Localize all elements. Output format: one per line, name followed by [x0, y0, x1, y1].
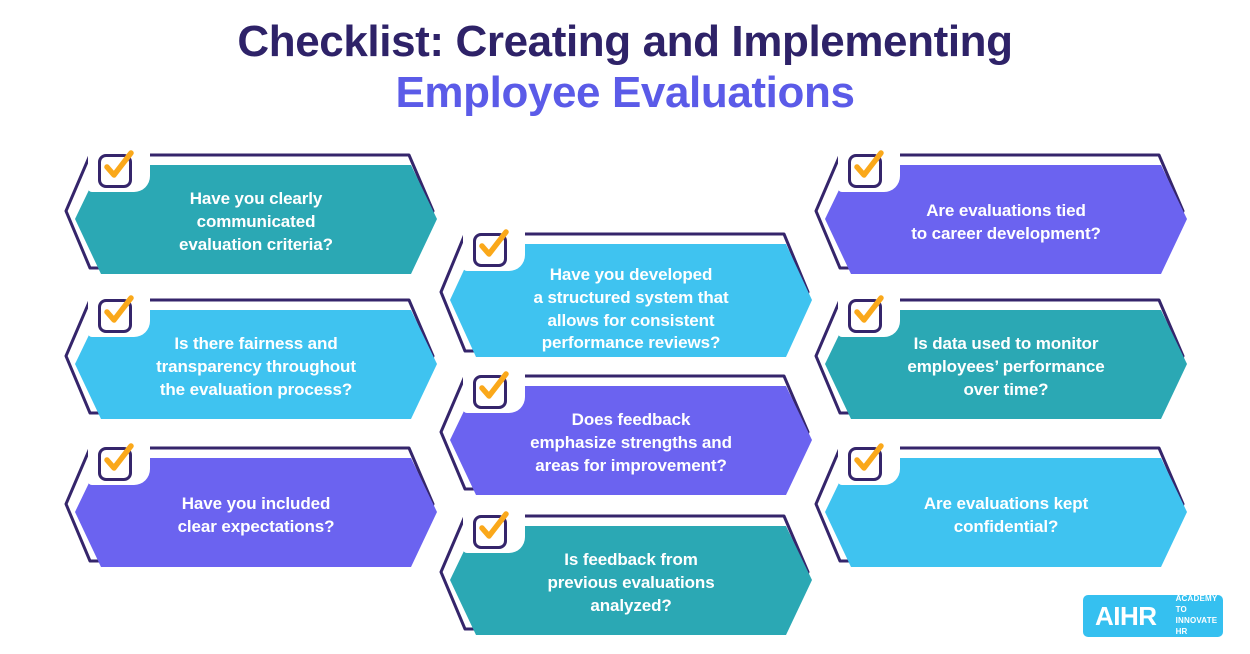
checklist-item-feedback-strengths[interactable]: Does feedback emphasize strengths and ar… — [437, 373, 812, 495]
checked-checkbox-icon[interactable] — [473, 375, 507, 409]
page-title-line-2: Employee Evaluations — [0, 67, 1250, 118]
checked-checkbox-icon[interactable] — [98, 154, 132, 188]
checklist-item-data-monitoring[interactable]: Is data used to monitor employees’ perfo… — [812, 297, 1187, 419]
check-mark-glyph — [95, 145, 139, 189]
page-title-line-1: Checklist: Creating and Implementing — [0, 16, 1250, 67]
infographic-canvas: Checklist: Creating and Implementing Emp… — [0, 0, 1250, 654]
checklist-item-clear-criteria[interactable]: Have you clearly communicated evaluation… — [62, 152, 437, 274]
logo-wordmark: AIHR — [1095, 603, 1157, 629]
checked-checkbox-icon[interactable] — [98, 299, 132, 333]
logo-tagline: ACADEMY TO INNOVATE HR — [1176, 594, 1218, 637]
checklist-item-previous-feedback[interactable]: Is feedback from previous evaluations an… — [437, 513, 812, 635]
check-mark-glyph — [470, 366, 514, 410]
checklist-item-structured-system[interactable]: Have you developed a structured system t… — [437, 231, 812, 357]
checklist-item-career-development[interactable]: Are evaluations tied to career developme… — [812, 152, 1187, 274]
aihr-logo: AIHR ACADEMY TO INNOVATE HR — [1083, 595, 1223, 637]
check-mark-glyph — [470, 506, 514, 550]
checklist-item-confidential[interactable]: Are evaluations kept confidential? — [812, 445, 1187, 567]
checked-checkbox-icon[interactable] — [848, 447, 882, 481]
checked-checkbox-icon[interactable] — [473, 233, 507, 267]
check-mark-glyph — [845, 438, 889, 482]
checked-checkbox-icon[interactable] — [98, 447, 132, 481]
check-mark-glyph — [470, 224, 514, 268]
check-mark-glyph — [95, 290, 139, 334]
check-mark-glyph — [845, 145, 889, 189]
checklist-item-fairness-transparency[interactable]: Is there fairness and transparency throu… — [62, 297, 437, 419]
checked-checkbox-icon[interactable] — [848, 299, 882, 333]
check-mark-glyph — [95, 438, 139, 482]
checked-checkbox-icon[interactable] — [848, 154, 882, 188]
page-title: Checklist: Creating and Implementing Emp… — [0, 16, 1250, 118]
checklist-item-clear-expectations[interactable]: Have you included clear expectations? — [62, 445, 437, 567]
checked-checkbox-icon[interactable] — [473, 515, 507, 549]
check-mark-glyph — [845, 290, 889, 334]
